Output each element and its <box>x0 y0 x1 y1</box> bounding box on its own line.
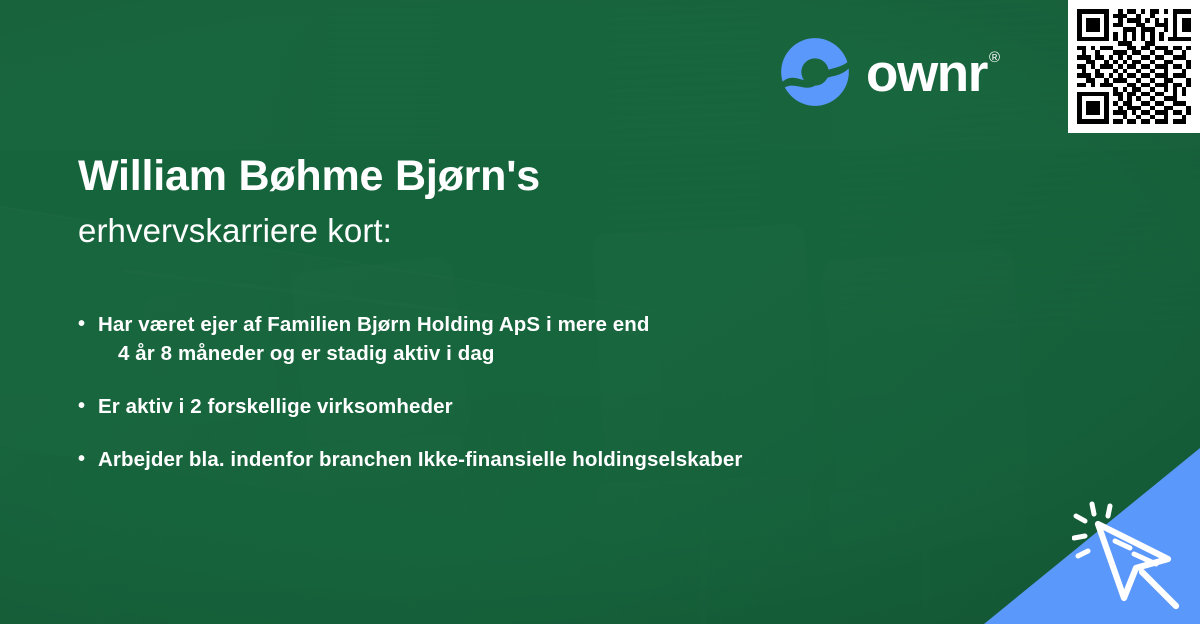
career-highlights-list: • Har været ejer af Familien Bjørn Holdi… <box>78 310 1028 498</box>
bullet-marker: • <box>78 392 94 420</box>
title-line-2: erhvervskarriere kort: <box>78 210 778 251</box>
list-item-text: Er aktiv i 2 forskellige virksomheder <box>94 392 453 421</box>
ownr-logo[interactable]: ownr ® <box>779 36 1000 108</box>
page-title: William Bøhme Bjørn's erhvervskarriere k… <box>78 152 778 251</box>
list-item: • Er aktiv i 2 forskellige virksomheder <box>78 392 1028 421</box>
list-item-line: Er aktiv i 2 forskellige virksomheder <box>98 395 453 418</box>
ownr-wordmark: ownr <box>866 47 987 100</box>
bullet-marker: • <box>78 310 94 338</box>
ownr-mark-icon <box>779 36 851 108</box>
list-item-continuation: 4 år 8 måneder og er stadig aktiv i dag <box>98 339 650 368</box>
list-item-text: Har været ejer af Familien Bjørn Holding… <box>94 310 650 368</box>
title-line-1: William Bøhme Bjørn's <box>78 152 778 200</box>
qr-code[interactable] <box>1068 0 1200 133</box>
list-item-line: Har været ejer af Familien Bjørn Holding… <box>98 313 650 336</box>
qr-code-matrix <box>1077 9 1191 124</box>
cursor-click-icon <box>1072 498 1192 618</box>
list-item-line: Arbejder bla. indenfor branchen Ikke-fin… <box>98 448 742 471</box>
list-item-text: Arbejder bla. indenfor branchen Ikke-fin… <box>94 445 742 474</box>
bullet-marker: • <box>78 445 94 473</box>
list-item: • Har været ejer af Familien Bjørn Holdi… <box>78 310 1028 368</box>
registered-trademark-symbol: ® <box>989 50 1000 65</box>
content-layer: William Bøhme Bjørn's erhvervskarriere k… <box>0 0 1200 624</box>
list-item: • Arbejder bla. indenfor branchen Ikke-f… <box>78 445 1028 474</box>
